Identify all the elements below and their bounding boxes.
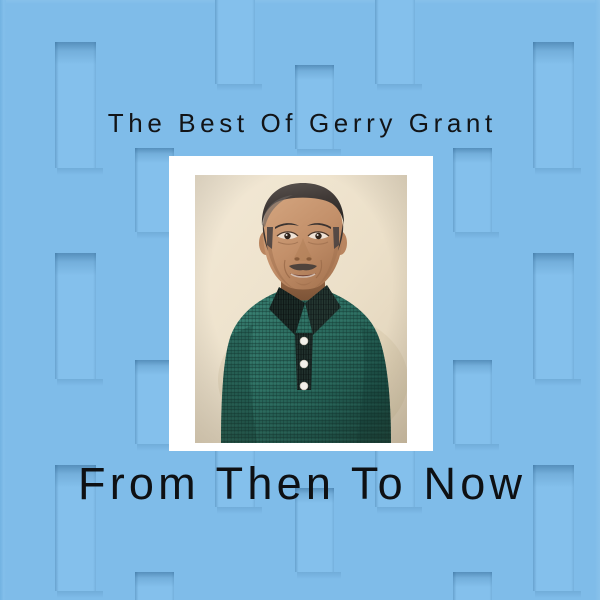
pattern-notch [453,572,492,600]
album-title: From Then To Now [0,458,600,510]
pattern-notch [375,0,415,84]
pattern-notch [135,572,174,600]
cover-edge-left [0,0,6,600]
pattern-notch [55,253,96,379]
pattern-notch [453,360,492,444]
pattern-notch [453,148,492,232]
cover-edge-right [595,0,600,600]
pattern-notch [533,42,574,168]
cover-edge-top [0,0,600,4]
pattern-notch [55,42,96,168]
pattern-notch [215,0,255,84]
album-subtitle: The Best Of Gerry Grant [0,108,600,139]
album-cover: The Best Of Gerry Grant [0,0,600,600]
pattern-notch [533,253,574,379]
photo-frame [169,156,433,451]
artist-portrait [195,175,407,443]
